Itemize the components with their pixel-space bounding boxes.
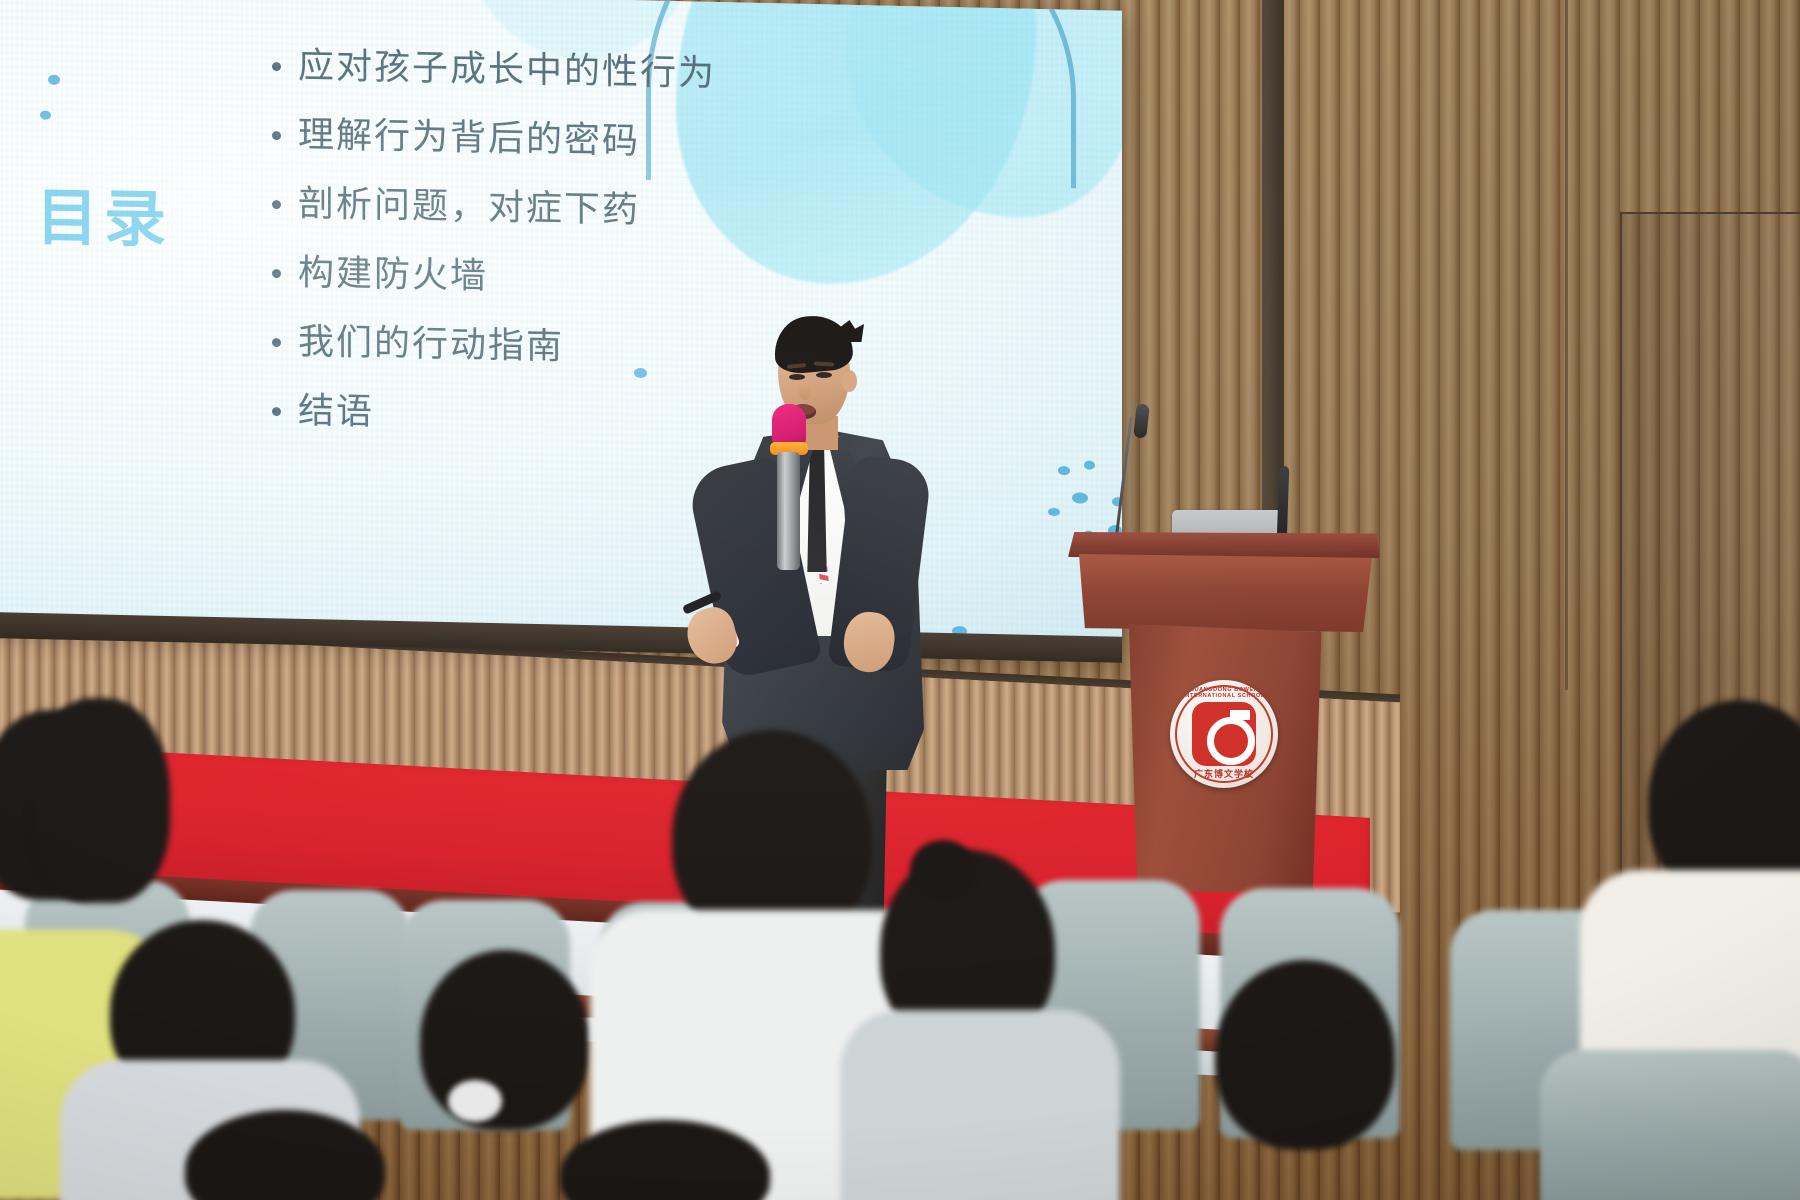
audience-foreground [0, 760, 1800, 1200]
decorative-dot [1072, 492, 1088, 503]
slide-bullet-5: 我们的行动指南 [272, 307, 716, 385]
slide-bullet-3: 剖析问题，对症下药 [272, 169, 716, 247]
speaker-hair [772, 313, 855, 376]
decorative-dot [1084, 461, 1095, 470]
audience-head [420, 950, 590, 1130]
audience-head [1215, 960, 1395, 1150]
audience-shoulders [840, 1010, 1120, 1200]
audience-hair-clip [448, 1080, 502, 1122]
projection-screen: 目录 应对孩子成长中的性行为 理解行为背后的密码 剖析问题，对症下药 构建防火墙… [0, 0, 1122, 651]
slide-title: 目录 [36, 186, 172, 251]
audience-hair-bun [910, 840, 976, 900]
speaker-eye-left [789, 374, 805, 380]
decorative-dot [1048, 508, 1060, 516]
decorative-dot [48, 75, 60, 85]
audience-head [30, 698, 170, 903]
auditorium-seat [1540, 1050, 1800, 1200]
emblem-english-text: GUANGDONG BOWEN INTERNATIONAL SCHOOL [1170, 687, 1278, 699]
handheld-microphone-body [777, 452, 800, 570]
decorative-dot [1058, 466, 1070, 475]
lecture-hall-scene: 目录 应对孩子成长中的性行为 理解行为背后的密码 剖析问题，对症下药 构建防火墙… [0, 0, 1800, 1200]
emblem-bar-mark [1230, 710, 1250, 720]
slide-bullet-2: 理解行为背后的密码 [272, 100, 716, 178]
speaker-nose [799, 382, 811, 400]
wall-seam [1565, 0, 1568, 690]
speaker-ear [842, 370, 857, 392]
decorative-dot [40, 111, 51, 120]
podium-upper-face [1076, 554, 1372, 632]
slide-bullet-6: 结语 [272, 376, 716, 454]
slide-bullet-list: 应对孩子成长中的性行为 理解行为背后的密码 剖析问题，对症下药 构建防火墙 我们… [272, 31, 716, 454]
podium-top-surface [1068, 532, 1380, 558]
slide-surface: 目录 应对孩子成长中的性行为 理解行为背后的密码 剖析问题，对症下药 构建防火墙… [0, 0, 1122, 649]
slide-bullet-1: 应对孩子成长中的性行为 [272, 31, 716, 109]
slide-bullet-4: 构建防火墙 [272, 238, 716, 316]
speaker-eye-right [816, 372, 832, 378]
